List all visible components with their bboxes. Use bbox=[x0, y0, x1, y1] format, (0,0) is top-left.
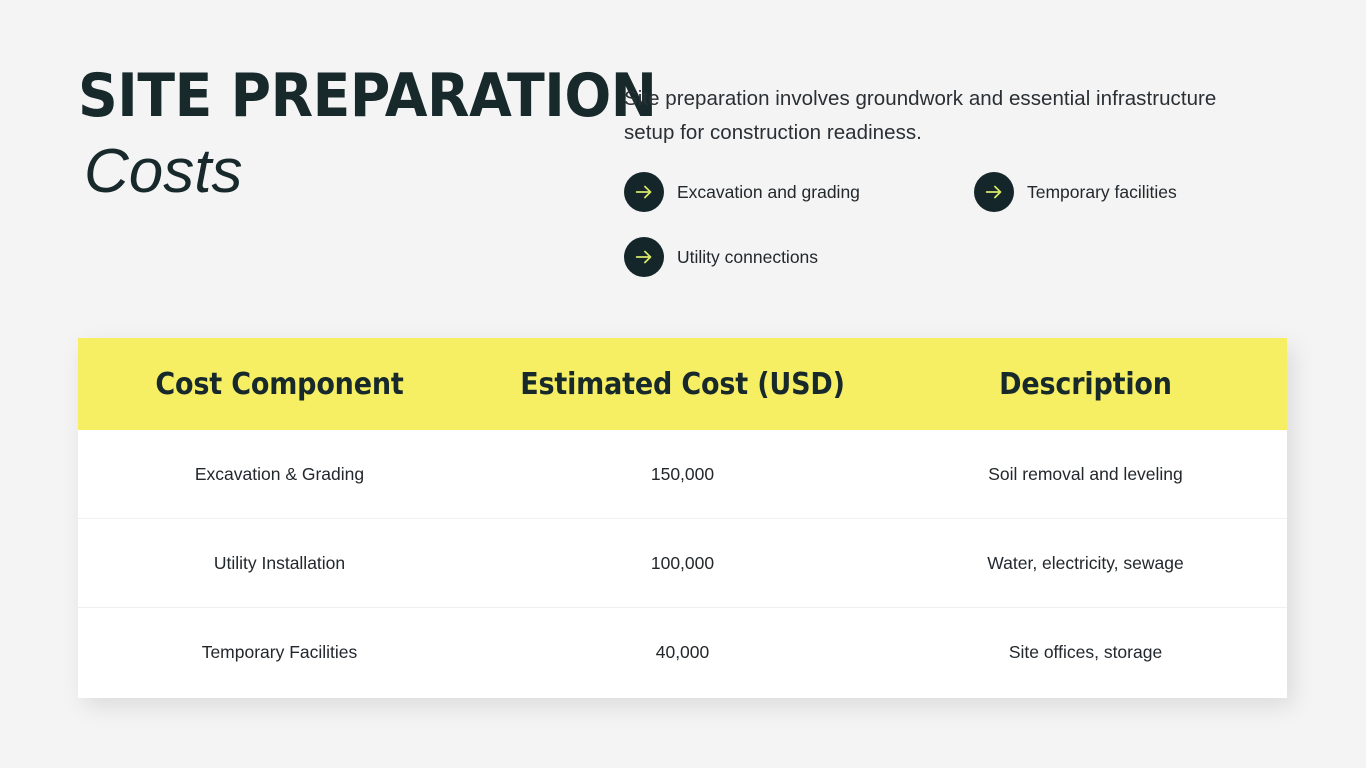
table-body: Excavation & Grading 150,000 Soil remova… bbox=[78, 430, 1287, 698]
intro-block: Site preparation involves groundwork and… bbox=[624, 82, 1264, 150]
column-header-cost-component: Cost Component bbox=[98, 367, 461, 402]
cell-cost: 150,000 bbox=[481, 464, 884, 485]
cost-table: Cost Component Estimated Cost (USD) Desc… bbox=[78, 338, 1287, 698]
title-block: Site Preparation Costs bbox=[78, 68, 578, 204]
page-subtitle: Costs bbox=[84, 139, 578, 204]
arrow-right-icon bbox=[974, 172, 1014, 212]
table-row: Excavation & Grading 150,000 Soil remova… bbox=[78, 430, 1287, 519]
cell-component: Temporary Facilities bbox=[78, 642, 481, 663]
cell-cost: 40,000 bbox=[481, 642, 884, 663]
feature-label: Excavation and grading bbox=[677, 182, 860, 203]
cell-component: Excavation & Grading bbox=[78, 464, 481, 485]
column-header-estimated-cost: Estimated Cost (USD) bbox=[501, 367, 864, 402]
table-row: Temporary Facilities 40,000 Site offices… bbox=[78, 608, 1287, 696]
feature-item-excavation-and-grading[interactable]: Excavation and grading bbox=[624, 172, 974, 212]
arrow-right-icon bbox=[624, 172, 664, 212]
column-header-description: Description bbox=[904, 367, 1267, 402]
cell-cost: 100,000 bbox=[481, 553, 884, 574]
cell-description: Soil removal and leveling bbox=[884, 464, 1287, 485]
feature-item-temporary-facilities[interactable]: Temporary facilities bbox=[974, 172, 1284, 212]
slide-canvas: Site Preparation Costs Site preparation … bbox=[0, 0, 1366, 768]
cell-description: Water, electricity, sewage bbox=[884, 553, 1287, 574]
cell-component: Utility Installation bbox=[78, 553, 481, 574]
table-header-row: Cost Component Estimated Cost (USD) Desc… bbox=[78, 338, 1287, 430]
intro-paragraph: Site preparation involves groundwork and… bbox=[624, 82, 1264, 150]
page-title: Site Preparation bbox=[78, 68, 538, 125]
feature-item-utility-connections[interactable]: Utility connections bbox=[624, 237, 974, 277]
feature-list: Excavation and grading Temporary facilit… bbox=[624, 172, 1284, 302]
table-row: Utility Installation 100,000 Water, elec… bbox=[78, 519, 1287, 608]
cell-description: Site offices, storage bbox=[884, 642, 1287, 663]
arrow-right-icon bbox=[624, 237, 664, 277]
feature-label: Utility connections bbox=[677, 247, 818, 268]
feature-label: Temporary facilities bbox=[1027, 182, 1177, 203]
